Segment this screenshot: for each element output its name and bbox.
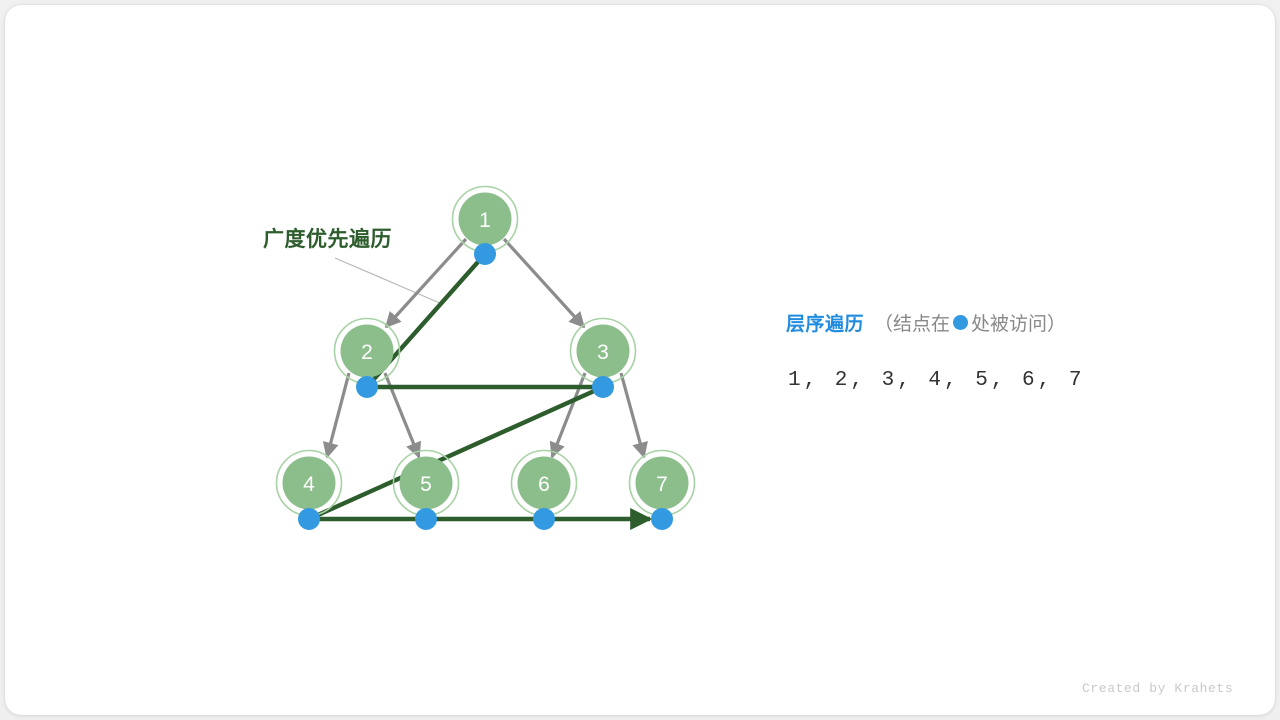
node-label: 7 [656, 473, 668, 496]
node-label: 6 [538, 473, 550, 496]
legend-description: （结点在 处被访问） [874, 309, 1066, 336]
node-label: 1 [479, 209, 491, 232]
visit-dot-node-2[interactable] [356, 376, 378, 398]
tree-edge-1-2 [386, 239, 466, 327]
screenshot-stage: 1 2 3 4 [0, 0, 1280, 720]
visit-dot-node-5[interactable] [415, 508, 437, 530]
tree-node-6[interactable]: 6 [512, 451, 577, 516]
tree-edge-2-4 [327, 373, 349, 457]
credit-text: Created by Krahets [1082, 681, 1233, 696]
tree-node-4[interactable]: 4 [277, 451, 342, 516]
node-label: 3 [597, 341, 609, 364]
tree-node-2[interactable]: 2 [335, 319, 400, 384]
visit-dot-node-7[interactable] [651, 508, 673, 530]
visit-dot-node-1[interactable] [474, 243, 496, 265]
bfs-tree-diagram: 1 2 3 4 [5, 5, 1275, 715]
diagram-card: 1 2 3 4 [5, 5, 1275, 715]
node-label: 2 [361, 341, 373, 364]
node-label: 5 [420, 473, 432, 496]
bfs-annotation-label: 广度优先遍历 [263, 223, 392, 253]
legend-line: 层序遍历 （结点在 处被访问） [786, 309, 1066, 336]
traversal-sequence: 1, 2, 3, 4, 5, 6, 7 [788, 369, 1084, 392]
blue-dot-icon [953, 315, 968, 330]
visit-dot-node-3[interactable] [592, 376, 614, 398]
legend-title: 层序遍历 [786, 309, 864, 336]
tree-node-3[interactable]: 3 [571, 319, 636, 384]
legend-text-after: 处被访问） [971, 309, 1066, 336]
tree-node-5[interactable]: 5 [394, 451, 459, 516]
visit-dot-node-4[interactable] [298, 508, 320, 530]
tree-node-7[interactable]: 7 [630, 451, 695, 516]
tree-node-1[interactable]: 1 [453, 187, 518, 252]
tree-edge-3-7 [621, 373, 644, 457]
node-label: 4 [303, 473, 315, 496]
visit-dot-node-6[interactable] [533, 508, 555, 530]
legend-text-before: （结点在 [874, 309, 950, 336]
tree-edge-1-3 [504, 239, 584, 327]
